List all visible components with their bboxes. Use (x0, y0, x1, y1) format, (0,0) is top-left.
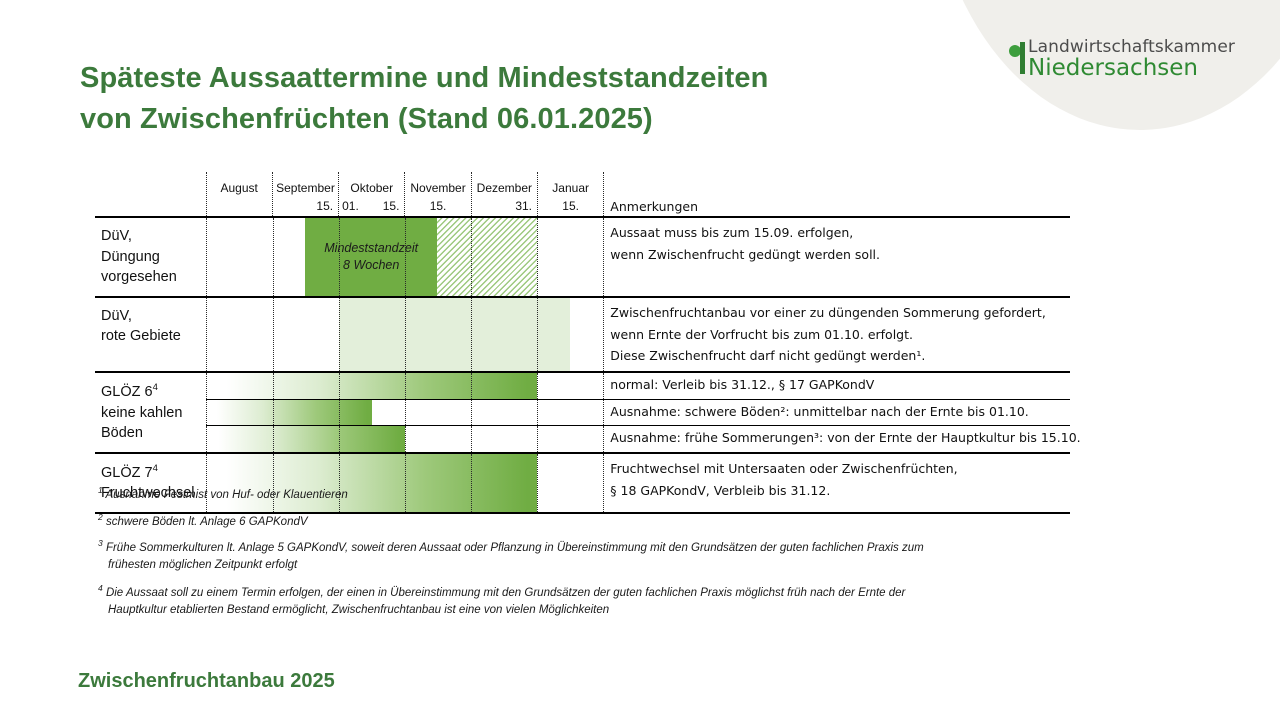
footnote-4: 4 Die Aussaat soll zu einem Termin erfol… (98, 582, 1078, 618)
footnote-1: 1 Ausnahme Festmist von Huf- oder Klauen… (98, 484, 1078, 504)
header-month-november: November 15. (405, 172, 471, 217)
notes-gloez6-fruehe-sommerungen: Ausnahme: frühe Sommerungen³: von der Er… (604, 426, 1070, 453)
page-title-line-2: von Zwischenfrüchten (Stand 06.01.2025) (80, 99, 940, 140)
bar-track-gloez6-normal (206, 372, 604, 399)
logo-bar-icon (1020, 42, 1025, 74)
footer-title: Zwischenfruchtanbau 2025 (78, 670, 335, 693)
table-header-row: August September 15. Oktober 01. 15. Nov… (95, 172, 1070, 217)
bar-track-duev-duengung: Mindeststandzeit 8 Wochen (206, 217, 604, 297)
logo-mark-icon (1009, 38, 1025, 78)
column-separators (207, 298, 604, 372)
bar-track-duev-rote-gebiete (206, 297, 604, 373)
header-month-dezember: Dezember 31. (471, 172, 537, 217)
page-title: Späteste Aussaattermine und Mindeststand… (80, 58, 940, 140)
logo-text: Landwirtschaftskammer Niedersachsen (1028, 38, 1235, 80)
row-label-duev-duengung: DüV, Düngung vorgesehen (95, 217, 206, 297)
header-month-januar: Januar 15. (538, 172, 604, 217)
table-row-gloez6-fruehe-sommerungen: Ausnahme: frühe Sommerungen³: von der Er… (95, 426, 1070, 453)
header-corner-cell (95, 172, 206, 217)
column-separators (207, 373, 604, 399)
schedule-table-container: August September 15. Oktober 01. 15. Nov… (95, 172, 1070, 514)
column-separators (207, 218, 604, 296)
bar-track-gloez6-fruehe-sommerungen (206, 426, 604, 453)
header-month-august: August (206, 172, 272, 217)
header-month-september: September 15. (272, 172, 338, 217)
page-title-line-1: Späteste Aussaattermine und Mindeststand… (80, 58, 940, 99)
row-label-duev-rote-gebiete: DüV, rote Gebiete (95, 297, 206, 373)
table-row-duev-duengung: DüV, Düngung vorgesehen Mindeststandzeit… (95, 217, 1070, 297)
column-separators (207, 400, 604, 426)
notes-gloez6-normal: normal: Verleib bis 31.12., § 17 GAPKond… (604, 372, 1070, 399)
notes-gloez6-schwere-boeden: Ausnahme: schwere Böden²: unmittelbar na… (604, 399, 1070, 426)
bar-track-gloez6-schwere-boeden (206, 399, 604, 426)
organization-logo: Landwirtschaftskammer Niedersachsen (1009, 38, 1235, 80)
schedule-table: August September 15. Oktober 01. 15. Nov… (95, 172, 1070, 514)
table-row-duev-rote-gebiete: DüV, rote Gebiete Zwischenfruchtanbau vo… (95, 297, 1070, 373)
footnotes-block: 1 Ausnahme Festmist von Huf- oder Klauen… (98, 484, 1078, 627)
header-month-oktober: Oktober 01. 15. (339, 172, 405, 217)
logo-line-1: Landwirtschaftskammer (1028, 39, 1235, 56)
column-separators (207, 426, 604, 452)
row-label-gloez6: GLÖZ 64 keine kahlen Böden (95, 372, 206, 453)
notes-duev-duengung: Aussaat muss bis zum 15.09. erfolgen, we… (604, 217, 1070, 297)
footnote-3: 3 Frühe Sommerkulturen lt. Anlage 5 GAPK… (98, 537, 1078, 573)
notes-duev-rote-gebiete: Zwischenfruchtanbau vor einer zu düngend… (604, 297, 1070, 373)
table-row-gloez6-schwere-boeden: Ausnahme: schwere Böden²: unmittelbar na… (95, 399, 1070, 426)
logo-line-2: Niedersachsen (1028, 57, 1235, 80)
header-notes-column: Anmerkungen (604, 172, 1070, 217)
table-row-gloez6-normal: GLÖZ 64 keine kahlen Böden normal: Verle… (95, 372, 1070, 399)
footnote-2: 2 schwere Böden lt. Anlage 6 GAPKondV (98, 511, 1078, 531)
